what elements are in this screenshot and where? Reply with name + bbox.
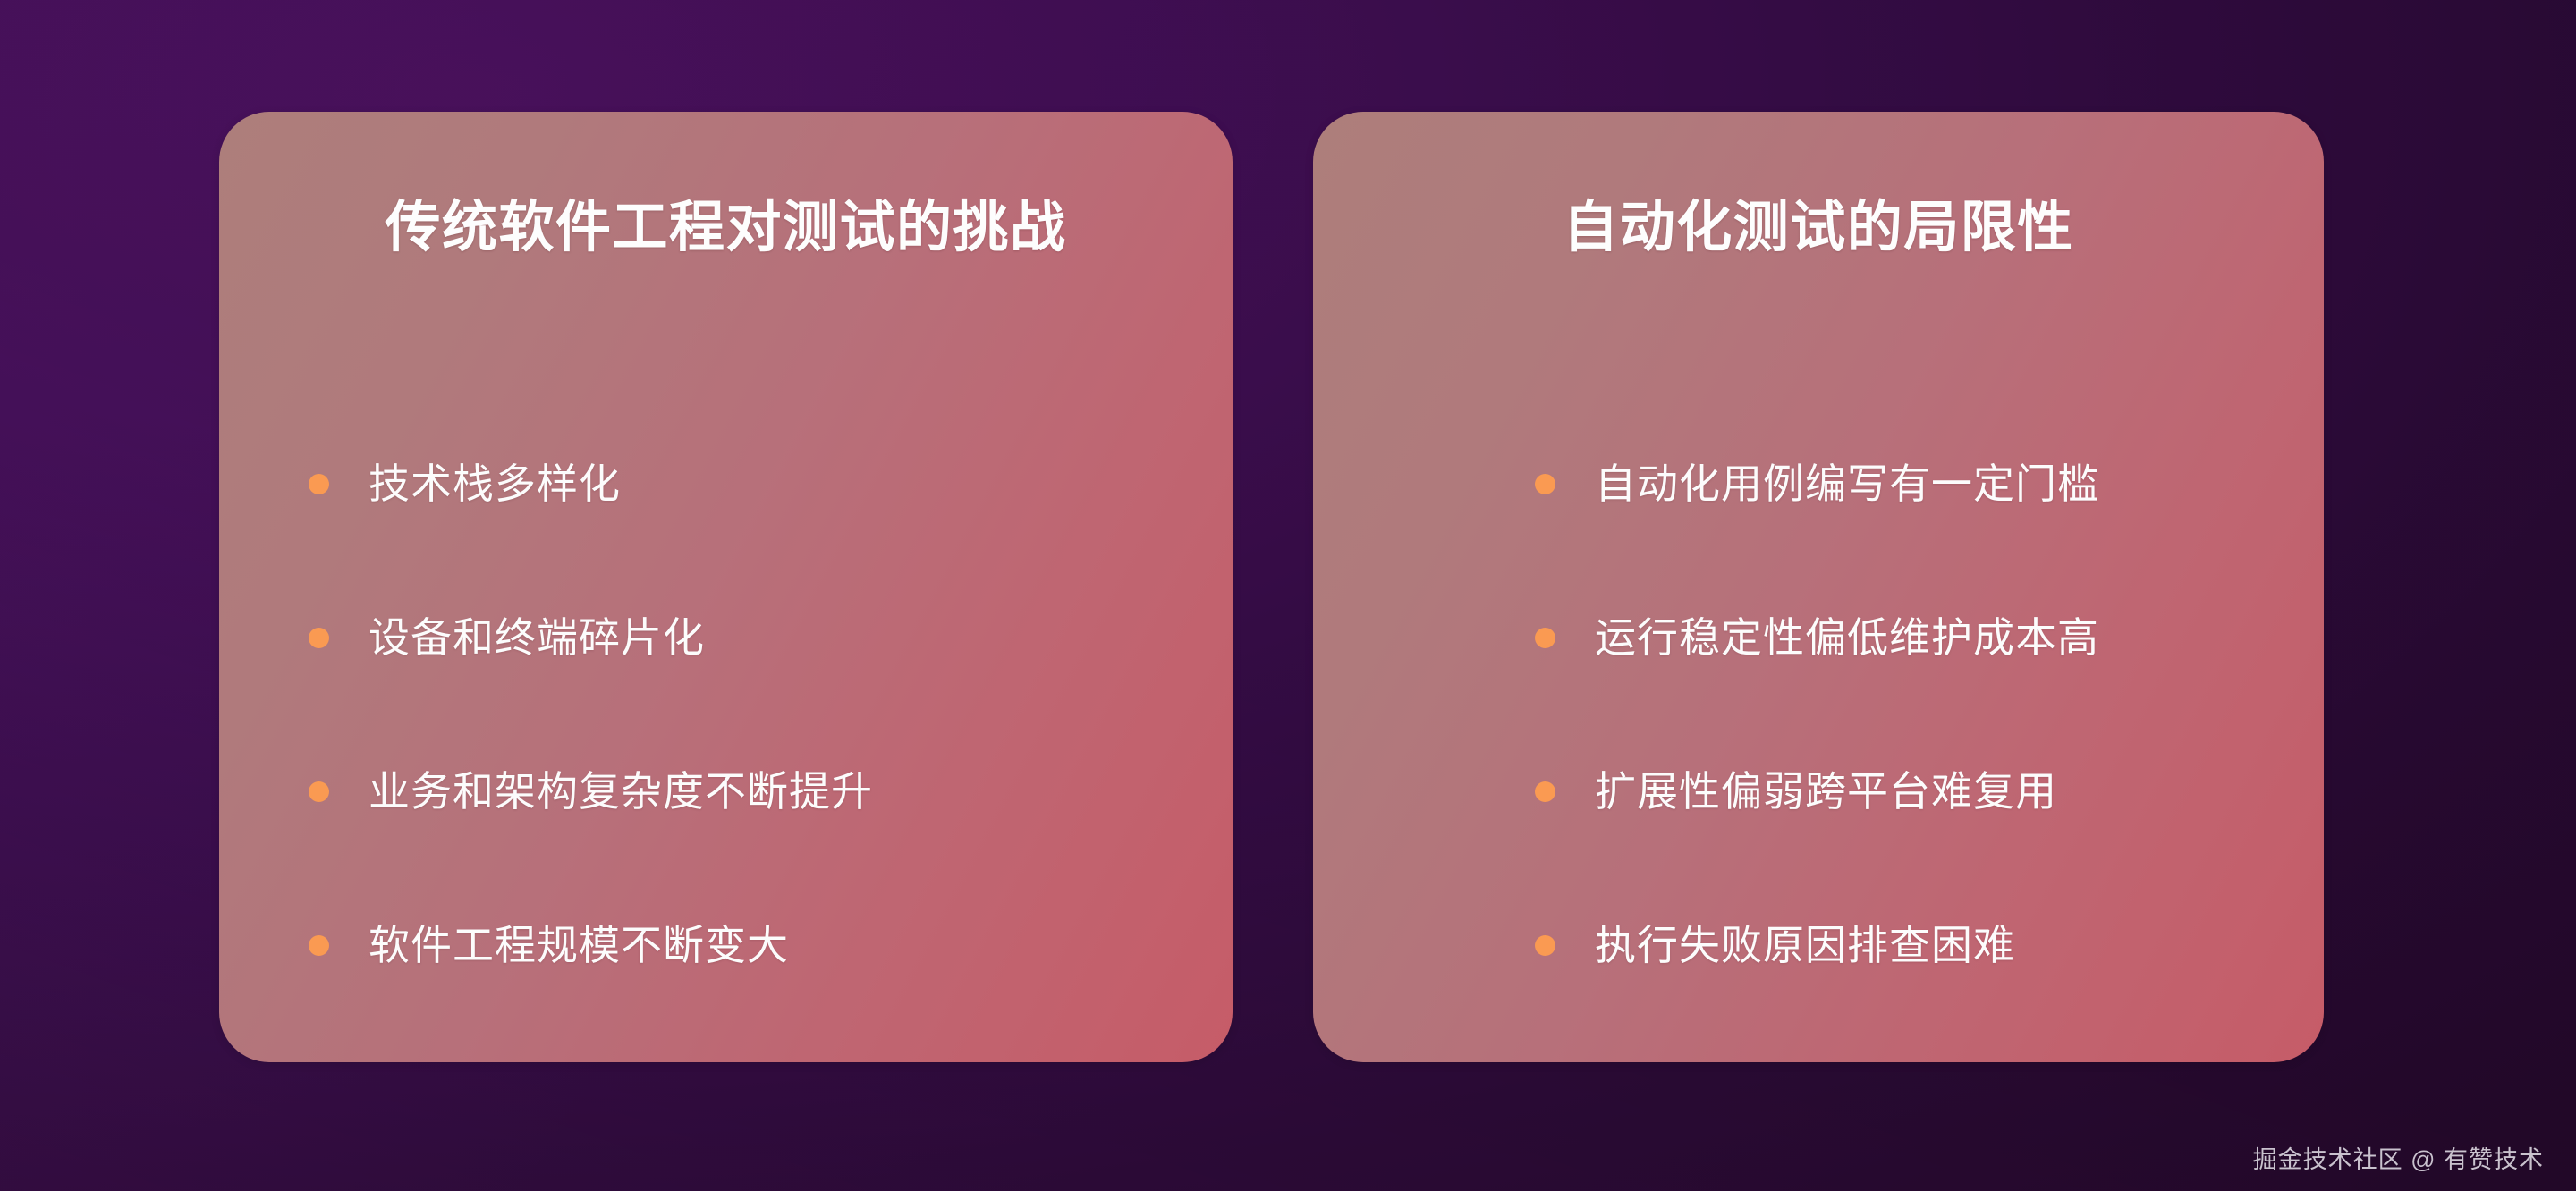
bullet-label: 软件工程规模不断变大 (369, 925, 789, 966)
bullet-label: 设备和终端碎片化 (369, 617, 705, 658)
list-item: 扩展性偏弱跨平台难复用 (1313, 748, 2324, 834)
card-automation-testing-limits: 自动化测试的局限性 自动化用例编写有一定门槛 运行稳定性偏低维护成本高 扩展性偏… (1313, 112, 2324, 1062)
watermark: 掘金技术社区 @ 有赞技术 (2253, 1140, 2544, 1175)
card-title-right: 自动化测试的局限性 (1313, 198, 2324, 258)
slide-canvas: 传统软件工程对测试的挑战 技术栈多样化 设备和终端碎片化 业务和架构复杂度不断提… (0, 0, 2576, 1191)
list-item: 技术栈多样化 (219, 441, 1233, 527)
bullet-list-left: 技术栈多样化 设备和终端碎片化 业务和架构复杂度不断提升 软件工程规模不断变大 (219, 441, 1233, 988)
list-item: 执行失败原因排查困难 (1313, 902, 2324, 988)
list-item: 设备和终端碎片化 (219, 595, 1233, 680)
cards-row: 传统软件工程对测试的挑战 技术栈多样化 设备和终端碎片化 业务和架构复杂度不断提… (0, 0, 2576, 1191)
bullet-dot-icon (309, 781, 329, 802)
bullet-label: 自动化用例编写有一定门槛 (1595, 463, 2099, 504)
bullet-dot-icon (1535, 474, 1555, 494)
card-title-left: 传统软件工程对测试的挑战 (219, 198, 1233, 258)
list-item: 软件工程规模不断变大 (219, 902, 1233, 988)
list-item: 自动化用例编写有一定门槛 (1313, 441, 2324, 527)
bullet-dot-icon (309, 474, 329, 494)
bullet-label: 运行稳定性偏低维护成本高 (1595, 617, 2099, 658)
list-item: 业务和架构复杂度不断提升 (219, 748, 1233, 834)
bullet-dot-icon (1535, 781, 1555, 802)
bullet-label: 执行失败原因排查困难 (1595, 925, 2015, 966)
bullet-dot-icon (309, 628, 329, 648)
bullet-label: 扩展性偏弱跨平台难复用 (1595, 771, 2057, 812)
bullet-list-right: 自动化用例编写有一定门槛 运行稳定性偏低维护成本高 扩展性偏弱跨平台难复用 执行… (1313, 441, 2324, 988)
bullet-dot-icon (1535, 628, 1555, 648)
card-traditional-software-engineering: 传统软件工程对测试的挑战 技术栈多样化 设备和终端碎片化 业务和架构复杂度不断提… (219, 112, 1233, 1062)
bullet-label: 技术栈多样化 (369, 463, 621, 504)
bullet-label: 业务和架构复杂度不断提升 (369, 771, 873, 812)
bullet-dot-icon (309, 935, 329, 956)
list-item: 运行稳定性偏低维护成本高 (1313, 595, 2324, 680)
bullet-dot-icon (1535, 935, 1555, 956)
